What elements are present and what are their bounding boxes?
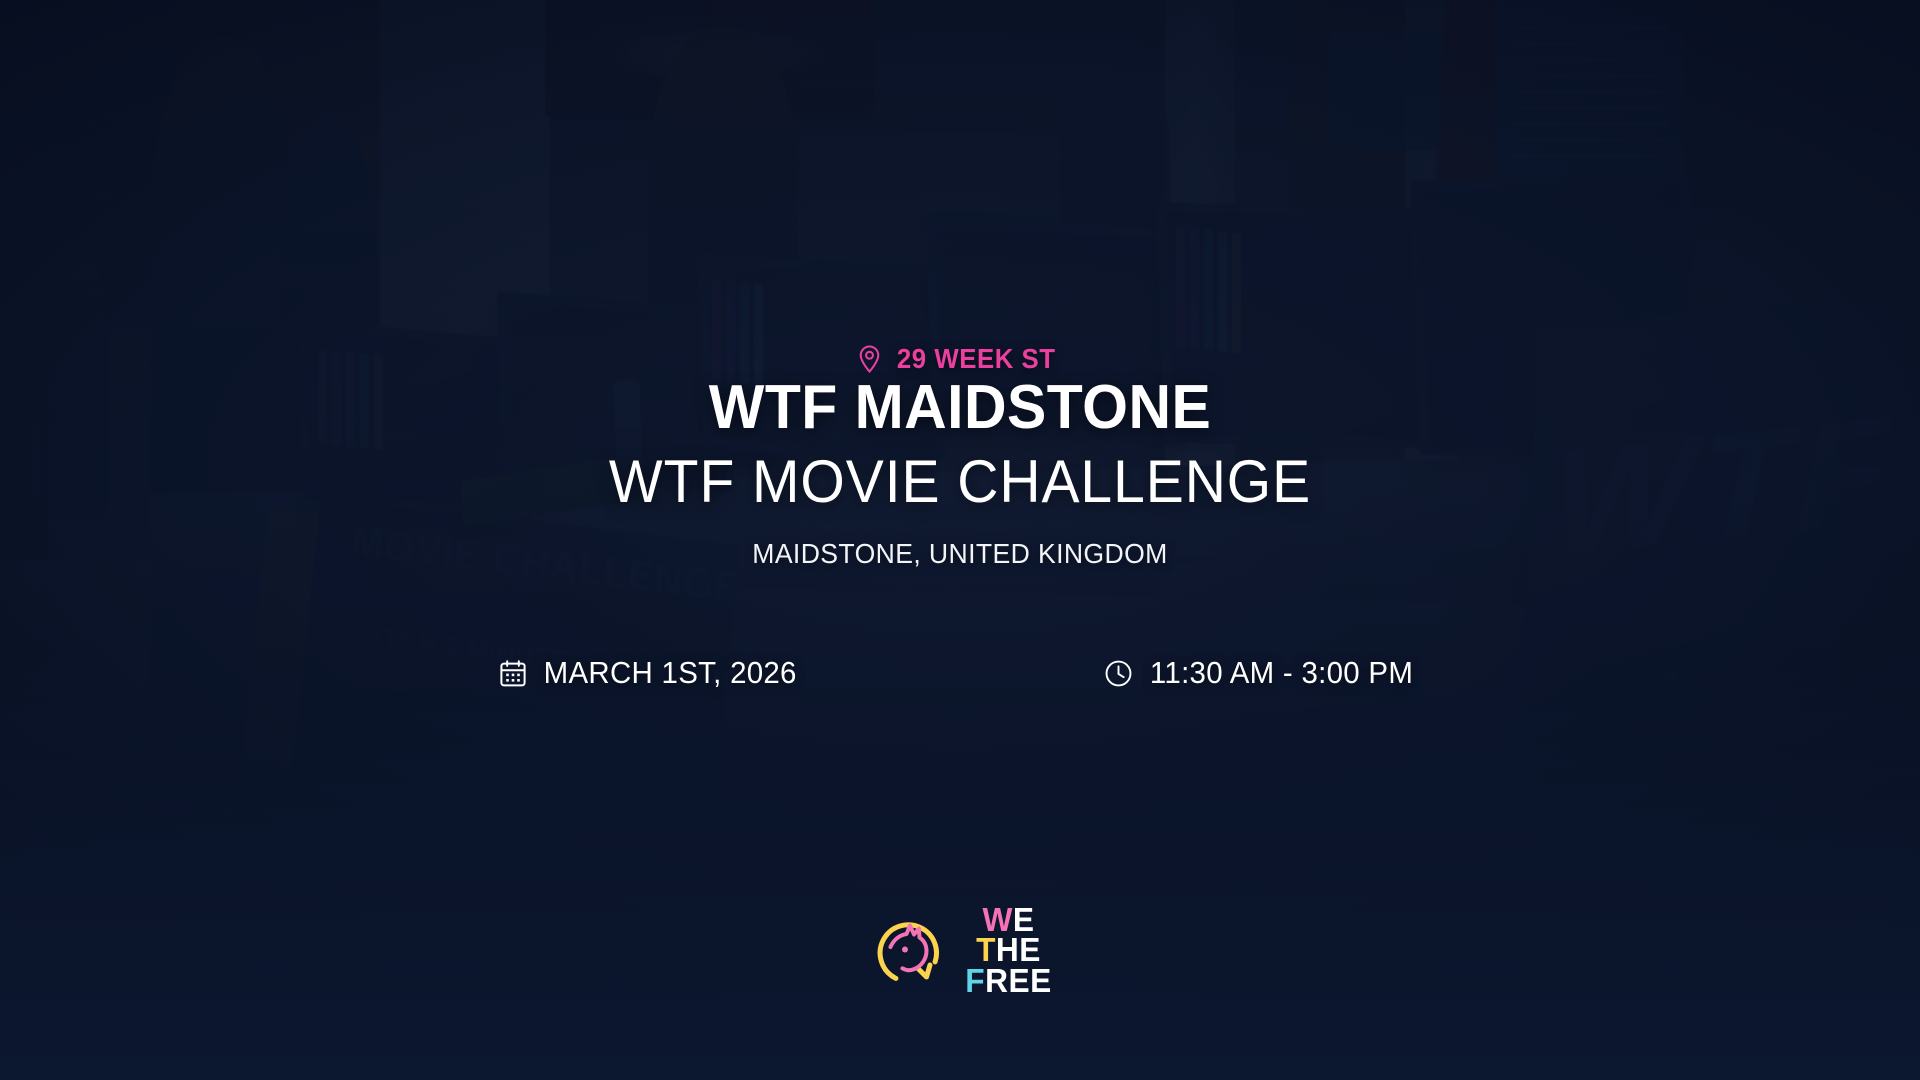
clock-icon bbox=[1105, 660, 1132, 687]
event-details-row: MARCH 1ST, 2026 11:30 AM - 3:00 PM bbox=[500, 655, 1420, 691]
banner-content: 29 WEEK ST WTF MAIDSTONE WTF MOVIE CHALL… bbox=[0, 0, 1920, 1080]
venue-line: 29 WEEK ST bbox=[0, 343, 1920, 375]
event-subtitle: WTF MOVIE CHALLENGE bbox=[48, 450, 1872, 515]
event-location: MAIDSTONE, UNITED KINGDOM bbox=[48, 538, 1872, 570]
event-title: WTF MAIDSTONE bbox=[48, 375, 1872, 442]
location-pin-icon bbox=[858, 345, 881, 373]
logo-line-free: FREE bbox=[965, 966, 1051, 996]
venue-name: 29 WEEK ST bbox=[897, 343, 1056, 375]
calendar-icon bbox=[500, 660, 526, 687]
logo-wordmark: WE THE FREE bbox=[965, 905, 1051, 996]
logo-letter-f: F bbox=[965, 962, 985, 999]
event-date: MARCH 1ST, 2026 bbox=[500, 655, 803, 691]
event-banner: MOVIE CHALLENGE WATCH 3 MINUTES, WIN A P… bbox=[0, 0, 1920, 1080]
logo-letters-ree: REE bbox=[985, 962, 1052, 999]
event-time: 11:30 AM - 3:00 PM bbox=[1105, 655, 1420, 691]
event-date-value: MARCH 1ST, 2026 bbox=[544, 655, 797, 691]
we-the-free-logo: WE THE FREE bbox=[866, 905, 1053, 996]
horse-head-in-circle-icon bbox=[866, 909, 950, 993]
event-time-value: 11:30 AM - 3:00 PM bbox=[1150, 655, 1413, 691]
